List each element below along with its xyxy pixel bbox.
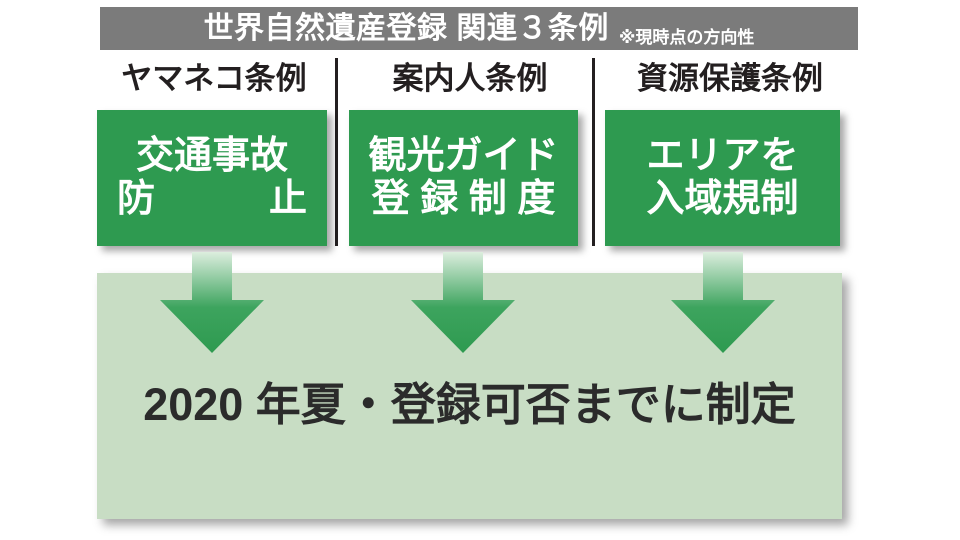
- measure-box-annaijin: 観光ガイド 登 録 制 度: [349, 110, 578, 246]
- page-title: 世界自然遺産登録 関連３条例: [204, 14, 609, 44]
- outcome-text: 2020 年夏・登録可否までに制定: [97, 368, 842, 440]
- arrow-down-icon-1: [157, 252, 267, 355]
- measure-box-annaijin-line2: 登 録 制 度: [372, 178, 556, 221]
- column-label-yamaneko: ヤマネコ条例: [90, 54, 338, 102]
- header-note: ※現時点の方向性: [619, 29, 755, 50]
- column-divider-1: [335, 58, 338, 246]
- measure-box-shigenhogo-line2: 入域規制: [646, 178, 798, 221]
- column-label-row: ヤマネコ条例 案内人条例 資源保護条例: [90, 54, 858, 102]
- arrow-down-icon-2: [408, 252, 518, 355]
- measure-box-annaijin-line1: 観光ガイド: [368, 135, 558, 178]
- arrow-down-icon-3: [668, 252, 778, 355]
- measure-box-yamaneko-line2: 防 止: [117, 178, 307, 221]
- column-label-shigenhogo: 資源保護条例: [602, 54, 858, 102]
- measure-box-shigenhogo: エリアを 入域規制: [605, 110, 840, 246]
- column-divider-2: [592, 58, 595, 246]
- header-title-bar: 世界自然遺産登録 関連３条例 ※現時点の方向性: [100, 7, 858, 50]
- measure-box-shigenhogo-line1: エリアを: [646, 135, 798, 178]
- measure-box-yamaneko-line1: 交通事故: [136, 135, 288, 178]
- measure-box-yamaneko: 交通事故 防 止: [97, 110, 327, 246]
- infographic-canvas: 世界自然遺産登録 関連３条例 ※現時点の方向性 ヤマネコ条例 案内人条例 資源保…: [0, 0, 960, 540]
- column-label-annaijin: 案内人条例: [346, 54, 594, 102]
